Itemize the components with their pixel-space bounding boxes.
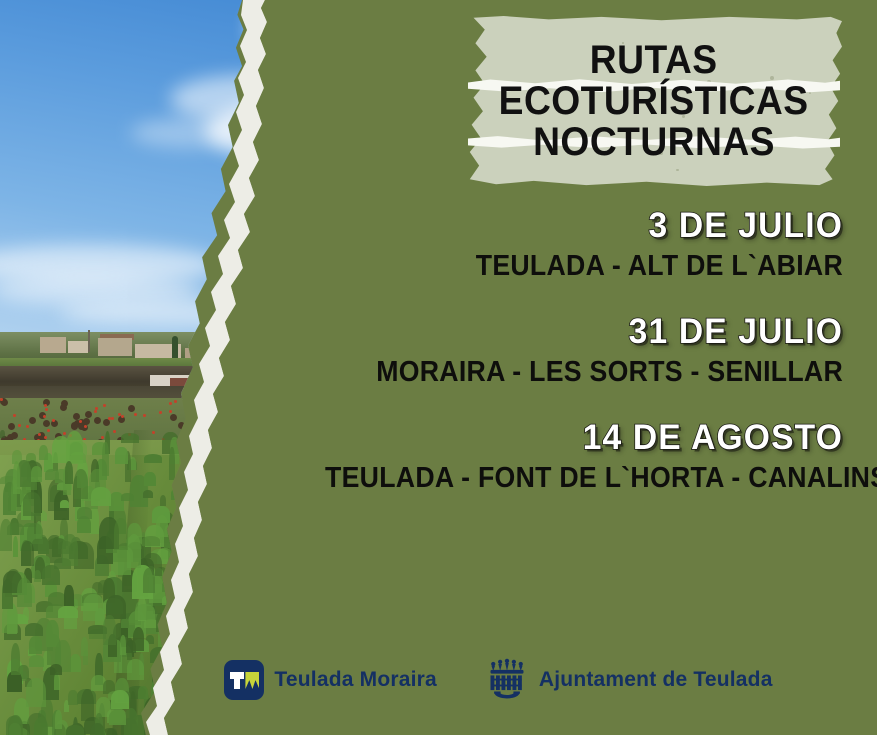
poppy — [134, 413, 137, 416]
gravel-speck — [439, 584, 441, 586]
cypress-tree — [172, 336, 178, 358]
gravel-speck — [237, 714, 240, 717]
poppy — [229, 444, 232, 447]
gravel-speck — [357, 518, 359, 520]
grass-tuft — [275, 527, 291, 550]
vine-stump — [272, 438, 279, 445]
vine-stump — [261, 433, 268, 440]
grass-tuft — [133, 627, 144, 650]
gravel-speck — [436, 497, 437, 498]
grass-tuft — [144, 472, 155, 486]
poppy — [13, 414, 16, 417]
vine-stump — [170, 414, 177, 421]
title-line-2: ECOTURÍSTICAS — [499, 81, 809, 121]
poppy — [79, 420, 82, 423]
gravel-speck — [372, 627, 375, 630]
vine-stump — [229, 426, 236, 433]
gravel-speck — [413, 601, 415, 603]
grass-tuft — [320, 496, 326, 508]
gravel-speck — [274, 459, 277, 462]
vine-stump — [184, 434, 191, 441]
grass-tuft — [259, 515, 269, 535]
vine-stump — [181, 425, 188, 432]
gravel-speck — [419, 539, 420, 540]
grass-tuft — [64, 585, 74, 606]
grass-tuft — [144, 720, 150, 735]
grass-tuft — [403, 580, 421, 595]
grass-tuft — [418, 519, 433, 536]
village-building — [68, 341, 88, 353]
grass-tuft — [135, 604, 156, 621]
utility-pole — [88, 330, 90, 352]
grass-tuft — [438, 559, 450, 582]
vine-stump — [250, 445, 257, 452]
logo-ajuntament-de-teulada[interactable]: Ajuntament de Teulada — [485, 658, 773, 702]
gravel-speck — [245, 606, 246, 607]
gravel-speck — [183, 483, 185, 485]
grass-tuft — [109, 710, 125, 725]
poppy — [95, 407, 98, 410]
grass-tuft — [378, 549, 384, 575]
poppy — [228, 431, 231, 434]
gravel-speck — [388, 541, 390, 543]
grass-tuft — [174, 624, 187, 646]
grass-tuft — [166, 621, 178, 645]
gravel-speck — [433, 518, 435, 520]
poppy — [198, 436, 201, 439]
grass-tuft — [34, 570, 41, 581]
grass-tuft — [45, 469, 59, 480]
village-building — [98, 338, 132, 356]
grass-tuft — [366, 531, 381, 541]
poppy — [174, 400, 177, 403]
gravel-speck — [384, 562, 387, 565]
grass-tuft — [332, 521, 342, 542]
gravel-speck — [215, 532, 218, 535]
grass-tuft — [304, 526, 317, 537]
grass-tuft — [390, 592, 399, 615]
grass-tuft — [259, 493, 275, 505]
grass-tuft — [142, 536, 160, 546]
poppy — [43, 415, 46, 418]
gravel-speck — [273, 564, 276, 567]
poppy — [187, 436, 190, 439]
gravel-speck — [346, 640, 347, 641]
route-schedule-list: 3 DE JULIO TEULADA - ALT DE L`ABIAR 31 D… — [280, 206, 858, 496]
gravel-speck — [217, 491, 220, 494]
gravel-speck — [268, 475, 270, 477]
grass-tuft — [434, 515, 451, 526]
path-shadow-streak — [216, 627, 301, 646]
grass-tuft — [103, 615, 116, 645]
grass-tuft — [271, 516, 284, 538]
vine-stump — [271, 446, 278, 453]
vine-stump — [250, 437, 257, 444]
grass-tuft — [143, 490, 153, 498]
gravel-speck — [219, 731, 222, 734]
footer-logos: Teulada Moraira — [0, 650, 877, 710]
grass-tuft — [404, 546, 419, 572]
vine-stump — [223, 419, 230, 426]
title-line-1: RUTAS — [590, 40, 718, 80]
gravel-speck — [382, 575, 384, 577]
grass-tuft — [394, 560, 401, 573]
grass-tuft — [66, 431, 83, 464]
gravel-speck — [341, 606, 342, 607]
gravel-speck — [221, 529, 223, 531]
gravel-speck — [309, 528, 311, 530]
gravel-speck — [312, 511, 314, 513]
grass-tuft — [277, 514, 286, 526]
gravel-speck — [270, 598, 273, 601]
grass-tuft — [373, 534, 388, 551]
gravel-speck — [273, 647, 275, 649]
grass-tuft — [306, 582, 317, 600]
poppy — [47, 429, 50, 432]
grass-tuft — [143, 568, 155, 592]
grass-tuft — [167, 624, 187, 646]
poppy — [143, 414, 146, 417]
grass-tuft — [292, 609, 301, 632]
poppy — [63, 432, 66, 435]
grass-tuft — [0, 430, 5, 438]
poppy — [26, 425, 29, 428]
path-shadow-streak — [164, 625, 208, 638]
grass-tuft — [273, 608, 292, 617]
coat-of-arms-icon — [485, 658, 529, 702]
path-shadow-streak — [270, 614, 336, 632]
gravel-speck — [260, 723, 262, 725]
route-title: TEULADA - ALT DE L`ABIAR — [325, 249, 843, 284]
vine-stump — [212, 429, 219, 436]
poppy — [45, 408, 48, 411]
gravel-speck — [358, 558, 359, 559]
gravel-speck — [185, 574, 188, 577]
grass-tuft — [23, 492, 41, 515]
grass-tuft — [416, 540, 421, 564]
grass-tuft — [297, 499, 305, 506]
gravel-speck — [210, 613, 211, 614]
gravel-speck — [437, 521, 439, 523]
poppy — [197, 412, 200, 415]
grass-tuft — [420, 502, 429, 522]
poppy — [245, 423, 248, 426]
gravel-speck — [279, 522, 281, 524]
path-shadow-streak — [178, 586, 212, 599]
vine-stump — [210, 413, 217, 420]
grass-tuft — [310, 591, 328, 599]
grass-tuft — [174, 584, 190, 616]
vine-stump — [29, 417, 36, 424]
path-shadow-streak — [204, 604, 256, 617]
gravel-speck — [442, 600, 444, 602]
grass-tuft — [301, 512, 312, 520]
logo-label-teulada-moraira: Teulada Moraira — [274, 668, 437, 692]
gravel-speck — [267, 527, 268, 528]
grass-tuft — [278, 580, 289, 592]
gravel-speck — [162, 618, 165, 621]
gravel-speck — [387, 566, 388, 567]
gravel-speck — [295, 589, 297, 591]
poppy — [0, 398, 3, 401]
gravel-speck — [300, 543, 303, 546]
gravel-speck — [341, 532, 344, 535]
grass-tuft — [438, 563, 443, 575]
grass-tuft — [296, 579, 305, 588]
poppy — [180, 438, 183, 441]
gravel-speck — [383, 576, 385, 578]
poppy — [84, 425, 87, 428]
gravel-speck — [267, 720, 269, 722]
gravel-speck — [238, 583, 241, 586]
grass-tuft — [347, 570, 365, 581]
tm-monogram-icon — [224, 660, 264, 700]
vine-stump — [8, 423, 15, 430]
cloud — [205, 100, 420, 162]
grass-tuft — [331, 566, 346, 591]
gravel-speck — [189, 526, 190, 527]
grass-tuft — [171, 535, 178, 561]
tm-letter-m — [245, 672, 259, 689]
gravel-speck — [366, 615, 369, 618]
gravel-speck — [180, 466, 181, 467]
cloud — [130, 118, 250, 148]
grass-tuft — [124, 708, 139, 735]
gravel-speck — [247, 645, 250, 648]
grass-tuft — [295, 580, 302, 593]
grass-tuft — [272, 531, 279, 551]
grass-tuft — [343, 570, 360, 592]
gravel-speck — [302, 714, 305, 717]
path-shadow-streak — [270, 568, 315, 582]
grass-tuft — [317, 527, 328, 552]
path-shadow-streak — [263, 565, 353, 584]
gravel-speck — [259, 723, 261, 725]
grass-tuft — [277, 536, 294, 547]
poppy — [244, 416, 247, 419]
vine-stump — [236, 421, 243, 428]
gravel-speck — [254, 620, 255, 621]
gravel-speck — [429, 717, 430, 718]
poppy — [194, 430, 197, 433]
gravel-speck — [370, 505, 373, 508]
grass-tuft — [263, 493, 270, 504]
grass-tuft — [403, 609, 412, 617]
grass-tuft — [432, 581, 440, 595]
gravel-speck — [414, 639, 417, 642]
grass-tuft — [162, 610, 169, 618]
grass-tuft — [66, 725, 83, 735]
poppy — [169, 410, 172, 413]
village-roof — [240, 347, 280, 352]
grass-tuft — [285, 606, 291, 618]
gravel-speck — [246, 500, 248, 502]
vine-stump — [213, 400, 220, 407]
grass-tuft — [144, 454, 162, 463]
grass-tuft — [39, 445, 48, 460]
gravel-speck — [401, 581, 404, 584]
gravel-speck — [220, 547, 222, 549]
grass-tuft — [286, 580, 295, 601]
logo-label-ajuntament: Ajuntament de Teulada — [539, 668, 773, 692]
gravel-speck — [265, 559, 267, 561]
grass-tuft — [91, 487, 111, 506]
grass-tuft — [65, 461, 74, 484]
path-shadow-streak — [233, 618, 343, 640]
gravel-speck — [320, 506, 322, 508]
grass-tuft — [253, 531, 264, 550]
grass-tuft — [74, 469, 89, 499]
grass-tuft — [452, 560, 468, 567]
gravel-speck — [210, 614, 211, 615]
grass-tuft — [297, 592, 310, 607]
poppy — [152, 431, 155, 434]
grass-tuft — [83, 594, 103, 621]
logo-teulada-moraira[interactable]: Teulada Moraira — [224, 660, 437, 700]
grass-tuft — [313, 613, 322, 639]
grass-tuft — [450, 498, 463, 522]
poppy — [261, 415, 264, 418]
gravel-speck — [206, 721, 209, 724]
grass-tuft — [413, 602, 426, 617]
poppy — [159, 411, 162, 414]
gravel-speck — [363, 505, 366, 508]
vine-stump — [189, 425, 196, 432]
gravel-speck — [195, 607, 196, 608]
grass-tuft — [453, 561, 465, 585]
gravel-speck — [382, 559, 385, 562]
gravel-speck — [334, 566, 336, 568]
gravel-speck — [220, 713, 222, 715]
grass-tuft — [256, 471, 263, 496]
vine-stump — [256, 401, 263, 408]
grass-tuft — [281, 574, 298, 600]
grass-tuft — [450, 542, 458, 566]
gravel-speck — [301, 620, 302, 621]
path-shadow-streak — [231, 604, 296, 621]
gravel-speck — [279, 538, 282, 541]
grass-tuft — [334, 529, 353, 556]
gravel-speck — [319, 554, 321, 556]
gravel-speck — [236, 542, 238, 544]
poppy — [189, 404, 192, 407]
grass-tuft — [303, 564, 322, 573]
grass-tuft — [456, 606, 463, 619]
cloud — [250, 0, 470, 75]
grass-tuft — [121, 493, 134, 501]
grass-tuft — [403, 573, 411, 587]
grass-tuft — [55, 710, 62, 728]
gravel-speck — [417, 515, 419, 517]
grass-tuft — [21, 541, 33, 566]
gravel-speck — [244, 725, 246, 727]
grass-tuft — [375, 568, 388, 588]
vine-stump — [94, 417, 101, 424]
grass-tuft — [162, 713, 171, 721]
poppy — [221, 417, 224, 420]
gravel-speck — [226, 503, 228, 505]
grass-tuft — [9, 723, 21, 735]
grass-tuft — [168, 730, 176, 735]
gravel-speck — [307, 552, 309, 554]
vine-stump — [185, 446, 192, 453]
gravel-speck — [433, 504, 435, 506]
gravel-speck — [264, 592, 266, 594]
grass-tuft — [42, 565, 60, 584]
gravel-speck — [261, 470, 262, 471]
gravel-speck — [304, 604, 307, 607]
grass-tuft — [250, 415, 255, 422]
gravel-speck — [321, 723, 324, 726]
gravel-speck — [202, 460, 204, 462]
vine-stump — [218, 437, 225, 444]
grass-tuft — [360, 503, 377, 529]
path-shadow-streak — [226, 631, 311, 648]
grass-tuft — [276, 528, 285, 554]
grass-tuft — [77, 507, 91, 519]
vine-stump — [60, 404, 67, 411]
gravel-speck — [392, 584, 394, 586]
grass-tuft — [90, 507, 99, 534]
tm-letter-t — [230, 672, 244, 679]
path-shadow-streak — [195, 578, 271, 593]
gravel-speck — [328, 551, 330, 553]
grass-tuft — [353, 544, 360, 563]
vine-stump — [211, 431, 218, 438]
vine-stump — [197, 430, 204, 437]
poppy — [215, 450, 218, 453]
grass-tuft — [264, 495, 280, 512]
poppy — [169, 402, 172, 405]
grass-tuft — [278, 515, 290, 533]
grass-tuft — [263, 467, 274, 475]
grass-tuft — [304, 566, 323, 576]
gravel-speck — [448, 515, 451, 518]
gravel-speck — [221, 475, 222, 476]
poster-canvas: RUTAS ECOTURÍSTICAS NOCTURNAS 3 DE JULIO… — [0, 0, 877, 735]
gravel-speck — [259, 590, 262, 593]
grass-tuft — [274, 588, 287, 605]
grass-tuft — [121, 433, 139, 443]
gravel-speck — [364, 513, 366, 515]
gravel-speck — [230, 484, 232, 486]
poppy — [103, 404, 106, 407]
poppy — [244, 452, 247, 455]
grass-tuft — [256, 564, 267, 588]
grass-tuft — [162, 580, 182, 592]
grass-tuft — [166, 721, 181, 735]
vine-stump — [243, 445, 250, 452]
grass-tuft — [389, 522, 401, 537]
poppy — [215, 400, 218, 403]
poppy — [213, 434, 216, 437]
gravel-speck — [333, 585, 334, 586]
gravel-speck — [156, 716, 158, 718]
gravel-speck — [175, 589, 177, 591]
grass-tuft — [285, 539, 293, 563]
grass-tuft — [160, 495, 166, 506]
gravel-speck — [272, 580, 275, 583]
grass-tuft — [167, 619, 184, 651]
vine-stump — [195, 411, 202, 418]
grass-tuft — [163, 622, 173, 652]
poppy — [121, 415, 124, 418]
gravel-speck — [432, 532, 434, 534]
vine-stump — [197, 406, 204, 413]
grass-tuft — [455, 540, 461, 550]
utility-pole — [268, 341, 270, 356]
poppy — [101, 436, 104, 439]
